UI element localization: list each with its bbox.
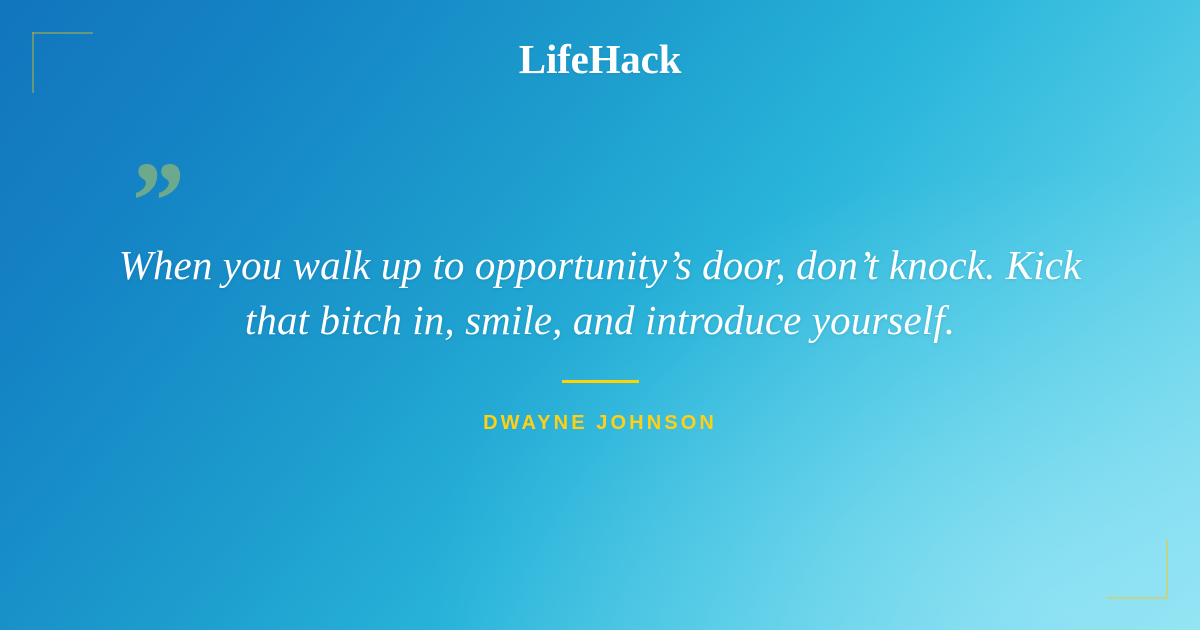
quote-line-1: When you walk up to opportunity’s door, … (119, 242, 1082, 288)
lifehack-logo[interactable]: LifeHack (0, 38, 1200, 81)
author-divider (562, 380, 639, 383)
bracket-horizontal-line (32, 32, 93, 34)
quote-card: LifeHack ” When you walk up to opportuni… (0, 0, 1200, 630)
quote-line-2: that bitch in, smile, and introduce your… (245, 297, 955, 343)
bracket-vertical-line (1166, 539, 1168, 599)
corner-bracket-bottom-right-icon (1107, 539, 1168, 599)
author-name: DWAYNE JOHNSON (0, 412, 1200, 435)
quote-text: When you walk up to opportunity’s door, … (90, 238, 1110, 348)
bracket-horizontal-line (1107, 597, 1168, 599)
